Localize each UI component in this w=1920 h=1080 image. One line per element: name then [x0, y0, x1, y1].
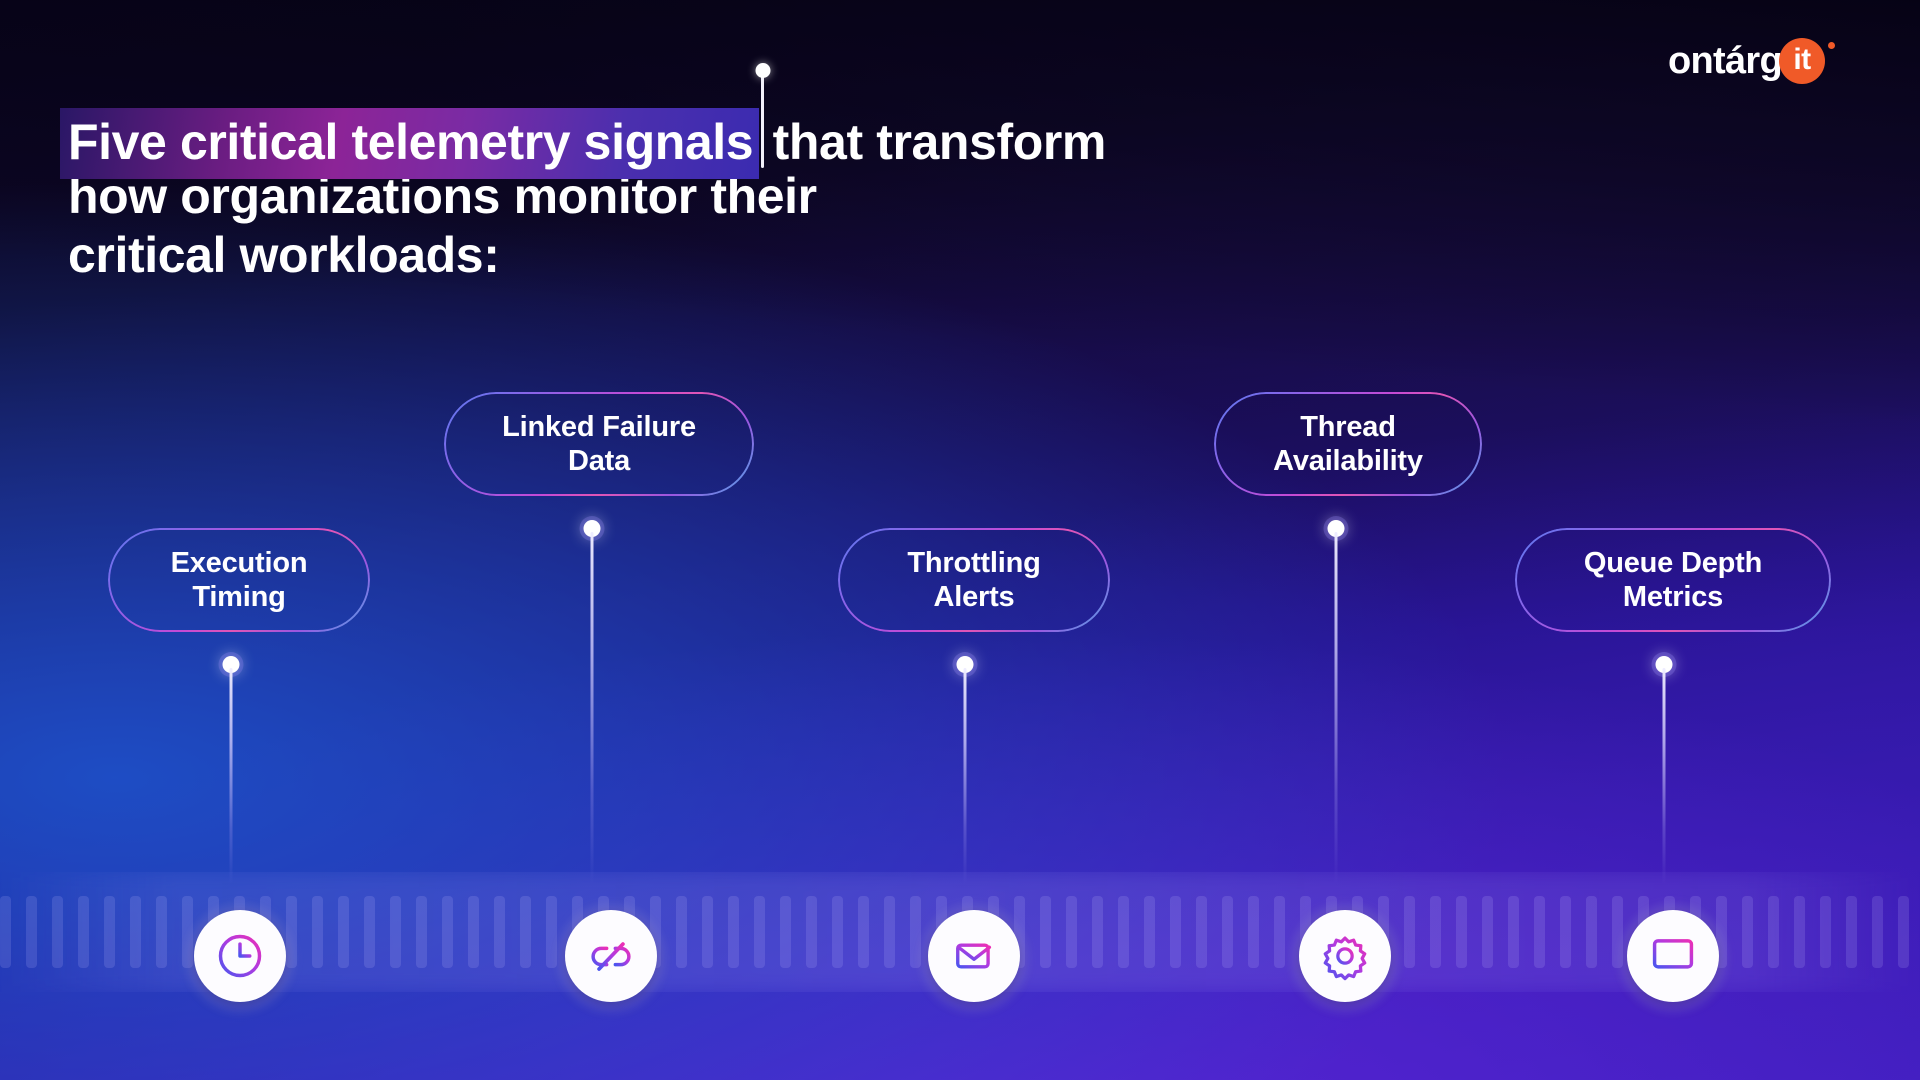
clock-icon: [214, 930, 266, 982]
strip-tick: [0, 896, 11, 968]
headline-line-1-rest: that transform: [759, 114, 1106, 170]
icon-disc: [1627, 910, 1719, 1002]
strip-tick: [520, 896, 531, 968]
strip-tick: [1196, 896, 1207, 968]
strip-tick: [1872, 896, 1883, 968]
strip-tick: [1768, 896, 1779, 968]
strip-tick: [156, 896, 167, 968]
strip-tick: [494, 896, 505, 968]
strip-tick: [910, 896, 921, 968]
strip-tick: [1248, 896, 1259, 968]
connector-queue-depth-metrics: [1655, 656, 1673, 888]
strip-tick: [26, 896, 37, 968]
strip-tick: [1144, 896, 1155, 968]
icon-disc: [565, 910, 657, 1002]
strip-tick: [754, 896, 765, 968]
strip-tick: [52, 896, 63, 968]
slide-canvas: ontárg it Five critical telemetry signal…: [0, 0, 1920, 1080]
mail-alert-icon: [948, 930, 1000, 982]
logo-badge-text: it: [1793, 45, 1810, 75]
signal-pill-linked-failure-data[interactable]: Linked Failure Data: [444, 392, 754, 496]
strip-tick: [1560, 896, 1571, 968]
strip-tick: [1040, 896, 1051, 968]
text-caret-icon: [761, 74, 764, 168]
strip-tick: [1170, 896, 1181, 968]
strip-tick: [1742, 896, 1753, 968]
headline-highlight-wrap: Five critical telemetry signals: [68, 108, 759, 179]
strip-tick: [676, 896, 687, 968]
icon-disc: [928, 910, 1020, 1002]
connector-throttling-alerts: [956, 656, 974, 888]
strip-tick: [546, 896, 557, 968]
strip-tick: [1898, 896, 1909, 968]
strip-tick: [858, 896, 869, 968]
strip-tick: [390, 896, 401, 968]
strip-tick: [442, 896, 453, 968]
strip-tick: [1820, 896, 1831, 968]
connector-stem: [1663, 668, 1666, 884]
broken-link-icon: [585, 930, 637, 982]
signal-pill-label: Throttling Alerts: [907, 546, 1040, 614]
strip-tick: [130, 896, 141, 968]
strip-tick: [1404, 896, 1415, 968]
strip-tick: [1794, 896, 1805, 968]
signal-icon-queue-depth-metrics[interactable]: [1627, 910, 1719, 1002]
signal-pill-label: Execution Timing: [171, 546, 308, 614]
signal-pill-label: Thread Availability: [1273, 410, 1423, 478]
connector-stem: [591, 532, 594, 884]
signal-icon-throttling-alerts[interactable]: [928, 910, 1020, 1002]
strip-tick: [1274, 896, 1285, 968]
strip-tick: [702, 896, 713, 968]
connector-thread-availability: [1327, 520, 1345, 888]
strip-tick: [780, 896, 791, 968]
logo-badge: it: [1779, 38, 1825, 84]
signal-pill-thread-availability[interactable]: Thread Availability: [1214, 392, 1482, 496]
monitor-chart-icon: [1647, 930, 1699, 982]
brand-logo: ontárg it: [1668, 38, 1835, 84]
logo-wordmark: ontárg: [1668, 42, 1782, 80]
strip-tick: [1066, 896, 1077, 968]
connector-linked-failure-data: [583, 520, 601, 888]
headline-line-1: Five critical telemetry signals that tra…: [68, 108, 1106, 167]
strip-tick: [1586, 896, 1597, 968]
strip-tick: [416, 896, 427, 968]
strip-tick: [806, 896, 817, 968]
strip-tick: [1222, 896, 1233, 968]
strip-tick: [104, 896, 115, 968]
icon-disc: [1299, 910, 1391, 1002]
strip-tick: [1456, 896, 1467, 968]
signal-pill-execution-timing[interactable]: Execution Timing: [108, 528, 370, 632]
gear-icon: [1319, 930, 1371, 982]
strip-tick: [832, 896, 843, 968]
strip-tick: [78, 896, 89, 968]
icon-disc: [194, 910, 286, 1002]
signal-pill-label: Queue Depth Metrics: [1584, 546, 1762, 614]
signal-icon-thread-availability[interactable]: [1299, 910, 1391, 1002]
connector-stem: [964, 668, 967, 884]
page-title: Five critical telemetry signals that tra…: [68, 108, 1106, 285]
strip-tick: [728, 896, 739, 968]
signal-pill-label: Linked Failure Data: [502, 410, 696, 478]
strip-tick: [364, 896, 375, 968]
strip-tick: [338, 896, 349, 968]
connector-execution-timing: [222, 656, 240, 888]
strip-tick: [312, 896, 323, 968]
strip-tick: [468, 896, 479, 968]
logo-registered-dot: [1828, 42, 1835, 49]
strip-tick: [1092, 896, 1103, 968]
strip-tick: [1118, 896, 1129, 968]
signal-icon-linked-failure-data[interactable]: [565, 910, 657, 1002]
signal-pill-queue-depth-metrics[interactable]: Queue Depth Metrics: [1515, 528, 1831, 632]
signal-icon-execution-timing[interactable]: [194, 910, 286, 1002]
strip-tick: [1430, 896, 1441, 968]
strip-tick: [1482, 896, 1493, 968]
strip-tick: [1846, 896, 1857, 968]
headline-highlight: Five critical telemetry signals: [60, 108, 759, 179]
strip-tick: [884, 896, 895, 968]
connector-stem: [1335, 532, 1338, 884]
strip-tick: [1508, 896, 1519, 968]
headline-line-3: critical workloads:: [68, 226, 1106, 285]
strip-tick: [1534, 896, 1545, 968]
connector-stem: [230, 668, 233, 884]
signal-pill-throttling-alerts[interactable]: Throttling Alerts: [838, 528, 1110, 632]
